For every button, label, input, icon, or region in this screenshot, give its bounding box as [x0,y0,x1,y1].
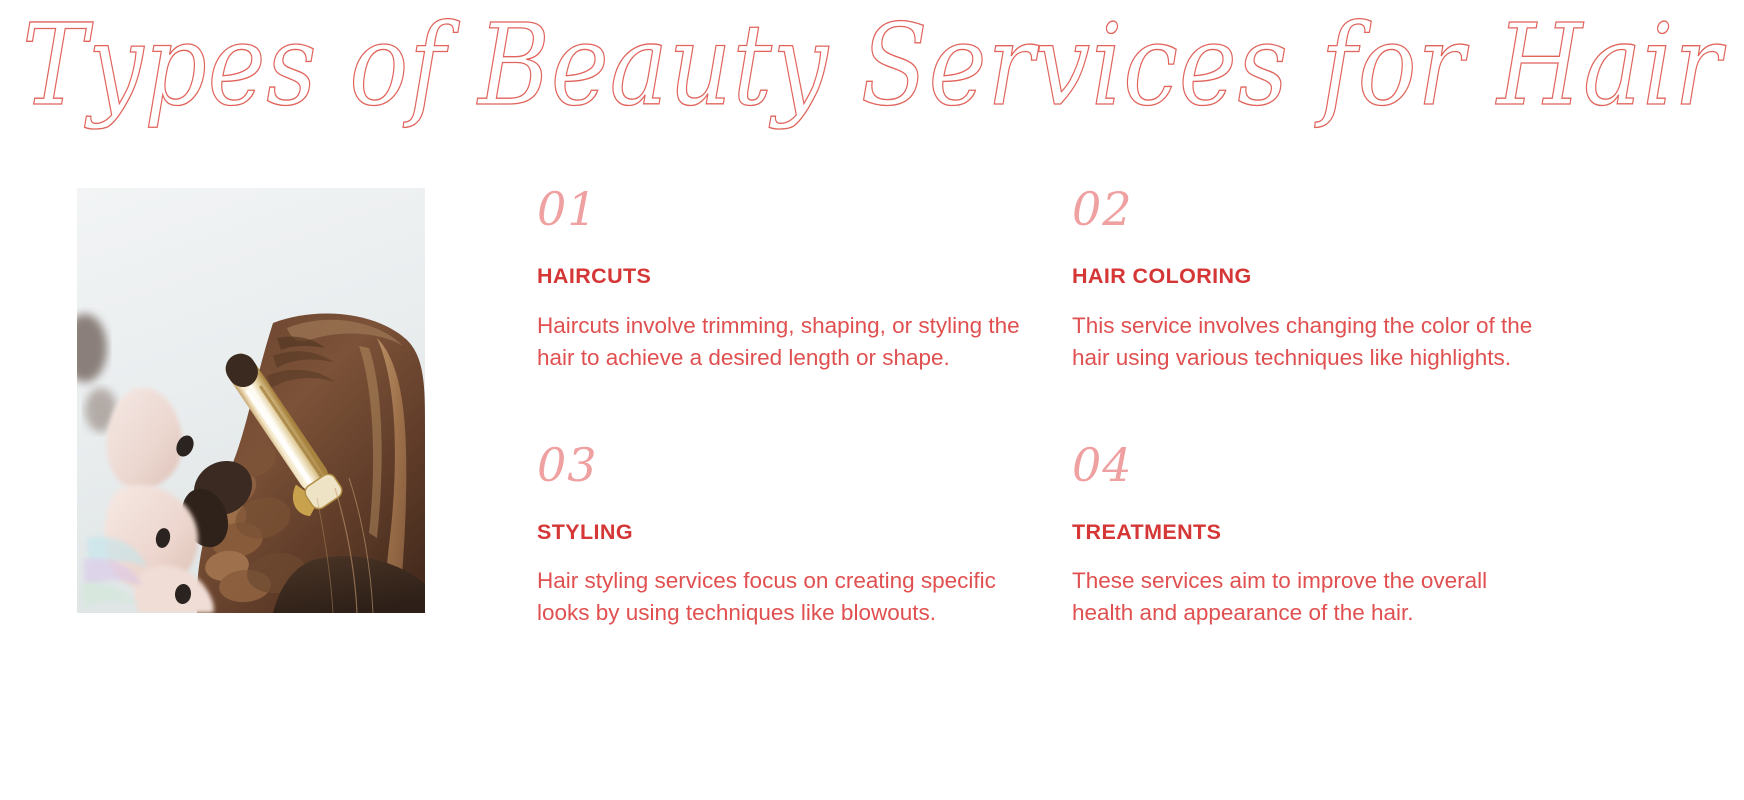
service-title: HAIR COLORING [1072,265,1572,289]
page-title-outline-svg: Types of Beauty Services for Hair [0,0,1744,150]
salon-photo [77,188,425,613]
service-card-03: 03 STYLING Hair styling services focus o… [537,442,1037,630]
slide-root: Types of Beauty Services for Hair [0,0,1744,800]
service-number: 01 [537,186,1037,232]
service-card-02: 02 HAIR COLORING This service involves c… [1072,186,1572,374]
service-description: Hair styling services focus on creating … [537,565,1037,629]
service-number: 03 [537,442,1037,488]
service-card-04: 04 TREATMENTS These services aim to impr… [1072,442,1572,630]
service-title: STYLING [537,521,1037,545]
service-card-01: 01 HAIRCUTS Haircuts involve trimming, s… [537,186,1037,374]
service-title: TREATMENTS [1072,521,1572,545]
salon-curling-iron-photo [77,188,425,613]
service-description: This service involves changing the color… [1072,310,1542,374]
service-title: HAIRCUTS [537,265,1037,289]
services-grid: 01 HAIRCUTS Haircuts involve trimming, s… [537,186,1607,629]
page-title-text: Types of Beauty Services for Hair [22,1,1727,131]
service-description: These services aim to improve the overal… [1072,565,1542,629]
service-number: 04 [1072,442,1572,488]
service-description: Haircuts involve trimming, shaping, or s… [537,310,1037,374]
page-title: Types of Beauty Services for Hair [0,0,1744,150]
service-number: 02 [1072,186,1572,232]
